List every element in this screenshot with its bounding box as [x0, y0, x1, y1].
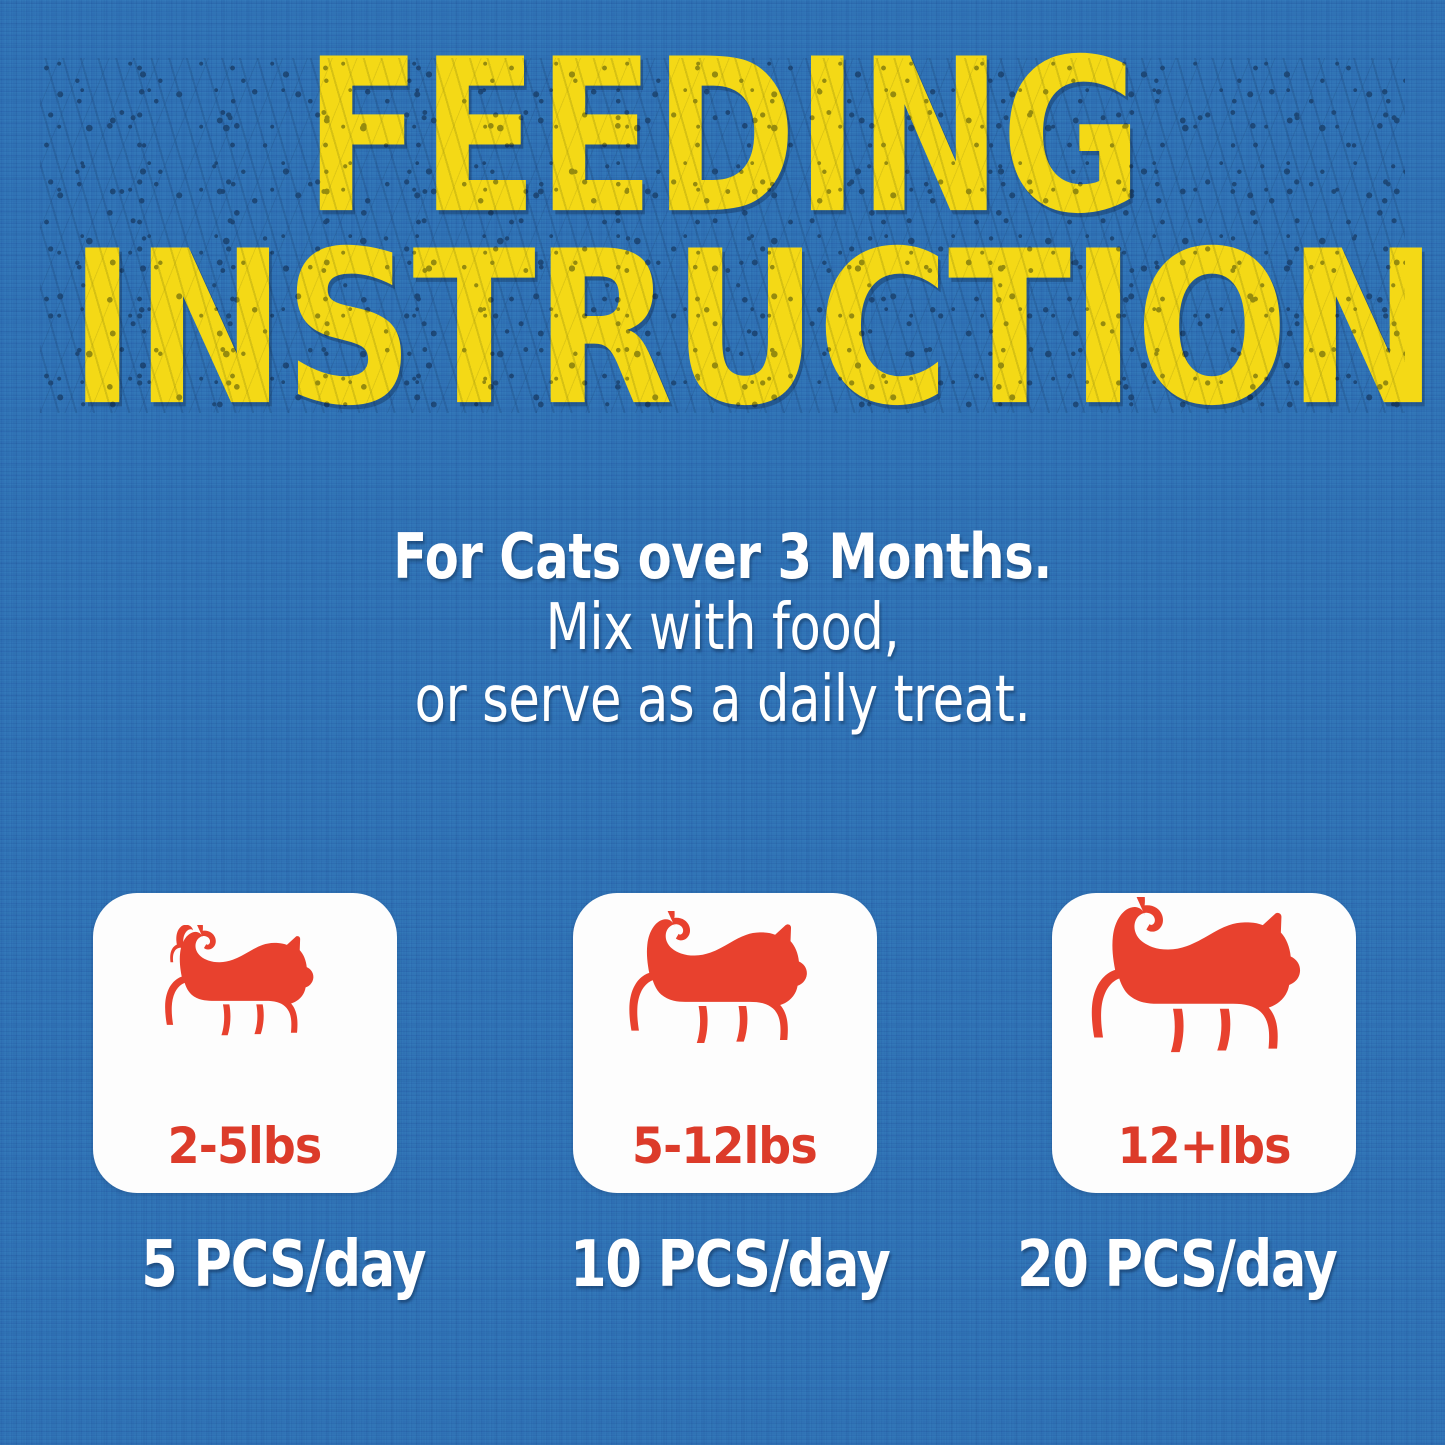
- weight-card-medium: 5-12lbs: [573, 893, 877, 1193]
- feeding-instructions-poster: FEEDING INSTRUCTIONS For Cats over 3 Mon…: [0, 0, 1445, 1445]
- dose-row: 5 PCS/day 10 PCS/day 20 PCS/day: [60, 1222, 1400, 1308]
- weight-card-row: 2-5lbs 5-12lbs 12+lbs: [93, 893, 1356, 1193]
- weight-range-label: 12+lbs: [1052, 1121, 1356, 1171]
- title-line-instructions: INSTRUCTIONS: [69, 232, 1377, 427]
- instructions-line-2: Mix with food,: [145, 592, 1301, 664]
- cat-walking-icon: [93, 925, 397, 1077]
- cat-walking-icon: [1052, 897, 1356, 1111]
- instructions-line-3: or serve as a daily treat.: [145, 664, 1301, 736]
- page-title: FEEDING INSTRUCTIONS: [0, 46, 1445, 422]
- dose-label-small: 5 PCS/day: [60, 1233, 507, 1297]
- weight-card-large: 12+lbs: [1052, 893, 1356, 1193]
- instructions-text-block: For Cats over 3 Months. Mix with food, o…: [0, 522, 1445, 737]
- dose-label-medium: 10 PCS/day: [507, 1233, 954, 1297]
- dose-label-large: 20 PCS/day: [953, 1233, 1400, 1297]
- instructions-line-1: For Cats over 3 Months.: [145, 522, 1301, 592]
- weight-range-label: 5-12lbs: [573, 1121, 877, 1171]
- weight-card-small: 2-5lbs: [93, 893, 397, 1193]
- cat-walking-icon: [573, 911, 877, 1093]
- weight-range-label: 2-5lbs: [93, 1121, 397, 1171]
